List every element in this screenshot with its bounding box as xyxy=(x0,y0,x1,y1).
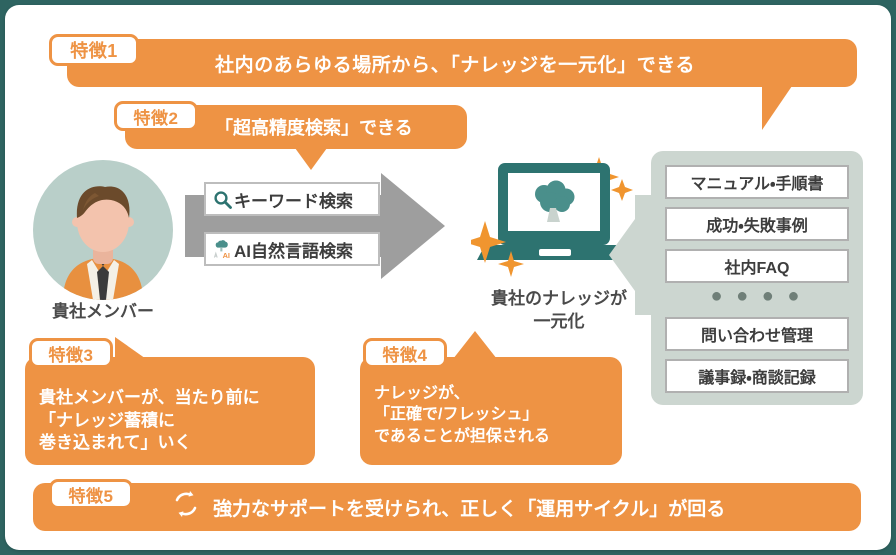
feature3-line1: 貴社メンバーが、当たり前に xyxy=(39,387,315,410)
search-option-ai-label: AI自然言語検索 xyxy=(234,237,353,262)
feature3-line2: 「ナレッジ蓄積に xyxy=(39,410,315,433)
feature3-callout: 貴社メンバーが、当たり前に 「ナレッジ蓄積に 巻き込まれて」いく xyxy=(25,357,315,465)
feature4-line2: 「正確で/フレッシュ」 xyxy=(374,404,622,425)
feature5-text: 強力なサポートを受けられ、正しく「運用サイクル」が回る xyxy=(213,494,725,521)
feature3-text: 貴社メンバーが、当たり前に 「ナレッジ蓄積に 巻き込まれて」いく xyxy=(39,387,315,455)
list-item[interactable]: 成功・失敗事例 xyxy=(665,207,849,241)
callout4-tail xyxy=(453,331,497,359)
banner1-tail xyxy=(762,86,792,130)
person-avatar-icon xyxy=(33,160,173,300)
search-option-keyword[interactable]: キーワード検索 xyxy=(204,182,380,216)
feature3-line3: 巻き込まれて」いく xyxy=(39,432,315,455)
list-ellipsis: ● ● ● ● xyxy=(651,285,863,308)
feature2-text: 「超高精度検索」できる xyxy=(215,114,413,140)
avatar-label: 貴社メンバー xyxy=(19,297,187,322)
feature5-badge: 特徴5 xyxy=(49,479,133,509)
banner2-tail xyxy=(295,148,327,170)
feature1-banner: 社内のあらゆる場所から、「ナレッジを一元化」できる xyxy=(67,39,857,87)
feature5-banner: 強力なサポートを受けられ、正しく「運用サイクル」が回る xyxy=(33,483,861,531)
feature4-badge: 特徴4 xyxy=(363,338,447,368)
refresh-cycle-icon xyxy=(171,489,201,525)
feature1-text: 社内のあらゆる場所から、「ナレッジを一元化」できる xyxy=(215,50,695,77)
search-option-keyword-label: キーワード検索 xyxy=(234,187,353,212)
feature4-callout: ナレッジが、 「正確で/フレッシュ」 であることが担保される xyxy=(360,357,622,465)
knowledge-list-panel: マニュアル・手順書 成功・失敗事例 社内FAQ ● ● ● ● 問い合わせ管理 … xyxy=(651,151,863,405)
svg-text:AI: AI xyxy=(223,251,230,260)
feature3-badge: 特徴3 xyxy=(29,338,113,368)
feature1-badge: 特徴1 xyxy=(49,34,139,66)
list-item[interactable]: 社内FAQ xyxy=(665,249,849,283)
feature4-text: ナレッジが、 「正確で/フレッシュ」 であることが担保される xyxy=(374,383,622,447)
infographic-card: 社内のあらゆる場所から、「ナレッジを一元化」できる 特徴1 「超高精度検索」でき… xyxy=(5,5,891,550)
list-item[interactable]: 問い合わせ管理 xyxy=(665,317,849,351)
avatar xyxy=(33,160,173,300)
list-item[interactable]: マニュアル・手順書 xyxy=(665,165,849,199)
feature2-badge: 特徴2 xyxy=(114,101,198,131)
magnifier-icon xyxy=(210,190,234,209)
feature4-line3: であることが担保される xyxy=(374,426,622,447)
feature4-line1: ナレッジが、 xyxy=(374,383,622,404)
list-item[interactable]: 議事録・商談記録 xyxy=(665,359,849,393)
ai-cloud-icon: AI xyxy=(210,238,234,260)
search-option-ai[interactable]: AI AI自然言語検索 xyxy=(204,232,380,266)
